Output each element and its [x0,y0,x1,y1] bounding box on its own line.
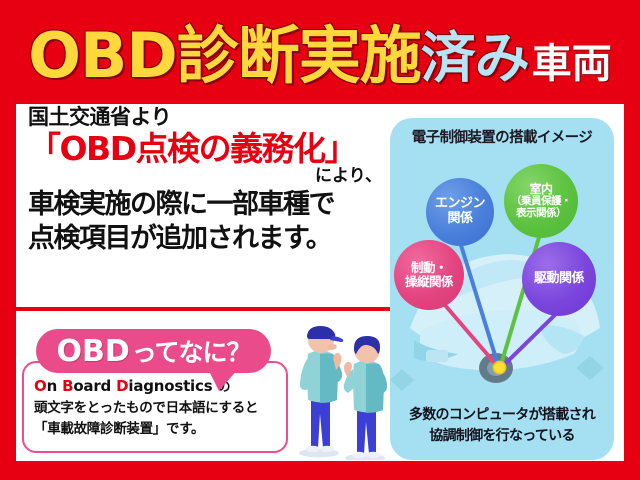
node-cabin-label-2: （乗員保護・ [511,196,571,208]
notice-line-1: 国土交通省より [28,106,386,129]
header-tail-text: 車両 [529,31,612,89]
content-panel: 国土交通省より 「OBD点検の義務化」 により、 車検実施の際に一部車種で 点検… [16,104,624,461]
obd-explainer-text: On Board Diagnostics の 頭文字をとったもので日本語にすると… [34,375,282,441]
header-sub-text: 済み [421,13,529,93]
acronym-b: B [62,377,73,395]
node-engine-label-1: エンジン [435,197,485,212]
acronym-n: n [47,377,63,395]
diagram-caption-line-1: 多数のコンピュータが搭載され [390,405,614,425]
header-main-text: OBD診断実施 [28,5,420,95]
notice-line-4: 車検実施の際に一部車種で [28,188,386,222]
left-column: 国土交通省より 「OBD点検の義務化」 により、 車検実施の際に一部車種で 点検… [16,104,390,461]
header-text-line: OBD診断実施済み車両 [28,5,611,95]
notice-line-5: 点検項目が追加されます。 [28,222,386,256]
person-pointing-icon [344,336,387,460]
bubble-question-label: ってなに？ [130,333,251,369]
node-cabin-label-3: 表示関係） [516,208,566,220]
obd-poster: OBD診断実施済み車両 国土交通省より 「OBD点検の義務化」 により、 車検実… [0,0,640,480]
node-brake-label-1: 制動・ [411,261,447,275]
notice-line-2-highlight: 「OBD点検の義務化」 [28,130,386,169]
obd-acronym-line: On Board Diagnostics の [34,375,282,398]
person-with-cap-icon [299,326,343,458]
acronym-o: O [34,377,47,395]
node-brake-label-2: 操縦関係 [405,275,453,289]
bubble-obd-label: OBD [56,334,129,369]
node-drive-label-1: 駆動関係 [534,272,584,287]
obd-explainer-line-3: 「車載故障診断装置」です。 [34,419,282,441]
node-cabin[interactable]: 室内 （乗員保護・ 表示関係） [504,164,578,238]
node-engine-label-2: 関係 [447,212,472,227]
diagram-caption: 多数のコンピュータが搭載され 協調制御を行なっている [390,405,614,446]
notice-block: 国土交通省より 「OBD点検の義務化」 により、 車検実施の際に一部車種で 点検… [24,104,386,304]
acronym-iagnostics: iagnostics [128,377,217,395]
obd-question-bubble: OBDってなに？ [36,329,271,373]
acronym-oard: oard [73,377,116,395]
central-computer-hub-icon [494,362,505,373]
diagram-caption-line-2: 協調制御を行なっている [390,426,614,446]
obd-explainer-line-2: 頭文字をとったもので日本語にすると [34,398,282,420]
acronym-d: D [116,377,128,395]
people-illustration [288,302,396,460]
node-brake[interactable]: 制動・ 操縦関係 [394,240,464,310]
poster-header: OBD診断実施済み車両 [0,0,640,100]
diagram-panel: 電子制御装置の搭載イメージ [390,118,614,460]
node-drive[interactable]: 駆動関係 [522,242,596,316]
notice-line-3: により、 [28,168,386,185]
node-cabin-label-1: 室内 [529,183,552,196]
node-engine[interactable]: エンジン 関係 [426,178,494,246]
